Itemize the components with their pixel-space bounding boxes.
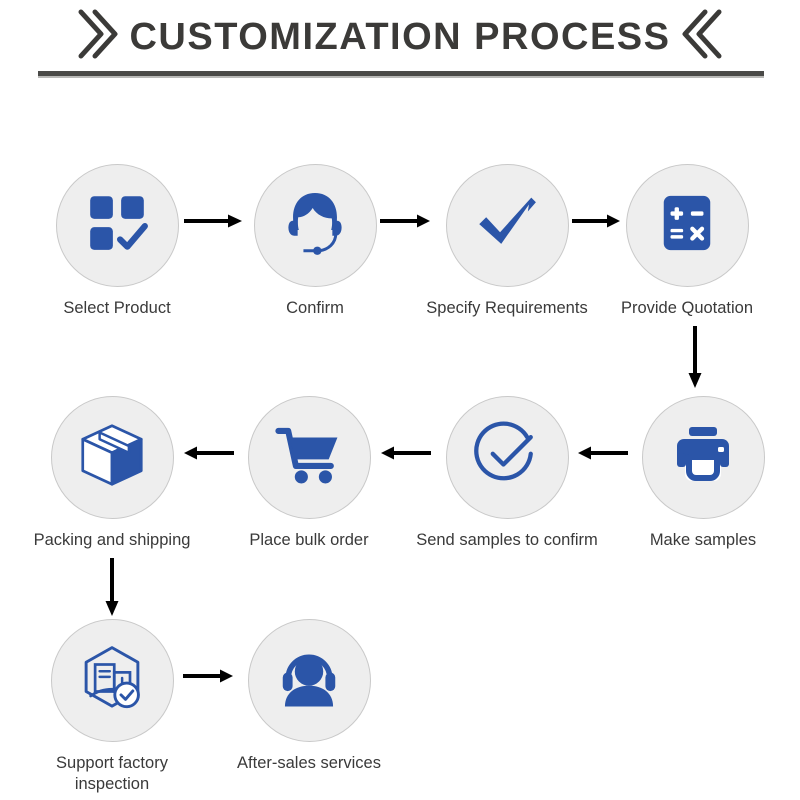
circle-check-icon [469,417,545,498]
process-step-confirm[interactable]: Confirm [220,164,410,319]
process-step-provide-quotation[interactable]: Provide Quotation [592,164,782,319]
step-icon-circle [254,164,377,287]
grid-check-icon [84,190,150,261]
factory-inspection-shield-icon [76,642,148,719]
step-label: Packing and shipping [34,530,191,551]
printer-icon [671,423,735,492]
step-icon-circle [56,164,179,287]
step-label: Confirm [286,298,344,319]
step-icon-circle [626,164,749,287]
shopping-cart-icon [274,420,344,495]
connector-arrow-down [684,326,706,393]
connector-arrow-down [101,558,123,621]
step-icon-circle [51,619,174,742]
step-label: Send samples to confirm [416,530,598,551]
process-flow: Select Product Confirm [0,96,800,800]
step-icon-circle [446,396,569,519]
process-step-send-samples-to-confirm[interactable]: Send samples to confirm [412,396,602,551]
step-label: After-sales services [237,753,381,774]
process-step-after-sales-services[interactable]: After-sales services [214,619,404,774]
connector-arrow-right [572,210,620,237]
step-label: Place bulk order [249,530,368,551]
page-title: CUSTOMIZATION PROCESS [129,18,670,56]
process-step-select-product[interactable]: Select Product [22,164,212,319]
calculator-icon [656,192,718,259]
process-step-specify-requirements[interactable]: Specify Requirements [412,164,602,319]
headset-person-icon [274,643,344,718]
step-icon-circle [642,396,765,519]
step-icon-circle [446,164,569,287]
step-icon-circle [51,396,174,519]
page-header: CUSTOMIZATION PROCESS [0,0,800,96]
connector-arrow-right [184,210,242,237]
step-label: Support factory inspection [56,753,168,794]
process-step-packing-and-shipping[interactable]: Packing and shipping [17,396,207,551]
connector-arrow-right [380,210,430,237]
double-chevron-right-icon [75,8,119,65]
step-label: Make samples [650,530,756,551]
connector-arrow-left [578,442,628,469]
step-icon-circle [248,619,371,742]
support-agent-headset-icon [278,186,352,265]
step-icon-circle [248,396,371,519]
title-row: CUSTOMIZATION PROCESS [0,8,800,65]
process-step-make-samples[interactable]: Make samples [608,396,798,551]
step-label: Select Product [63,298,170,319]
process-step-support-factory-inspection[interactable]: Support factory inspection [17,619,207,794]
step-label: Provide Quotation [621,298,753,319]
header-divider [38,71,764,78]
double-chevron-left-icon [681,8,725,65]
process-step-place-bulk-order[interactable]: Place bulk order [214,396,404,551]
connector-arrow-right [183,665,233,692]
checkmark-icon [470,186,544,265]
package-box-icon [76,419,148,496]
connector-arrow-left [381,442,431,469]
step-label: Specify Requirements [426,298,587,319]
connector-arrow-left [184,442,234,469]
